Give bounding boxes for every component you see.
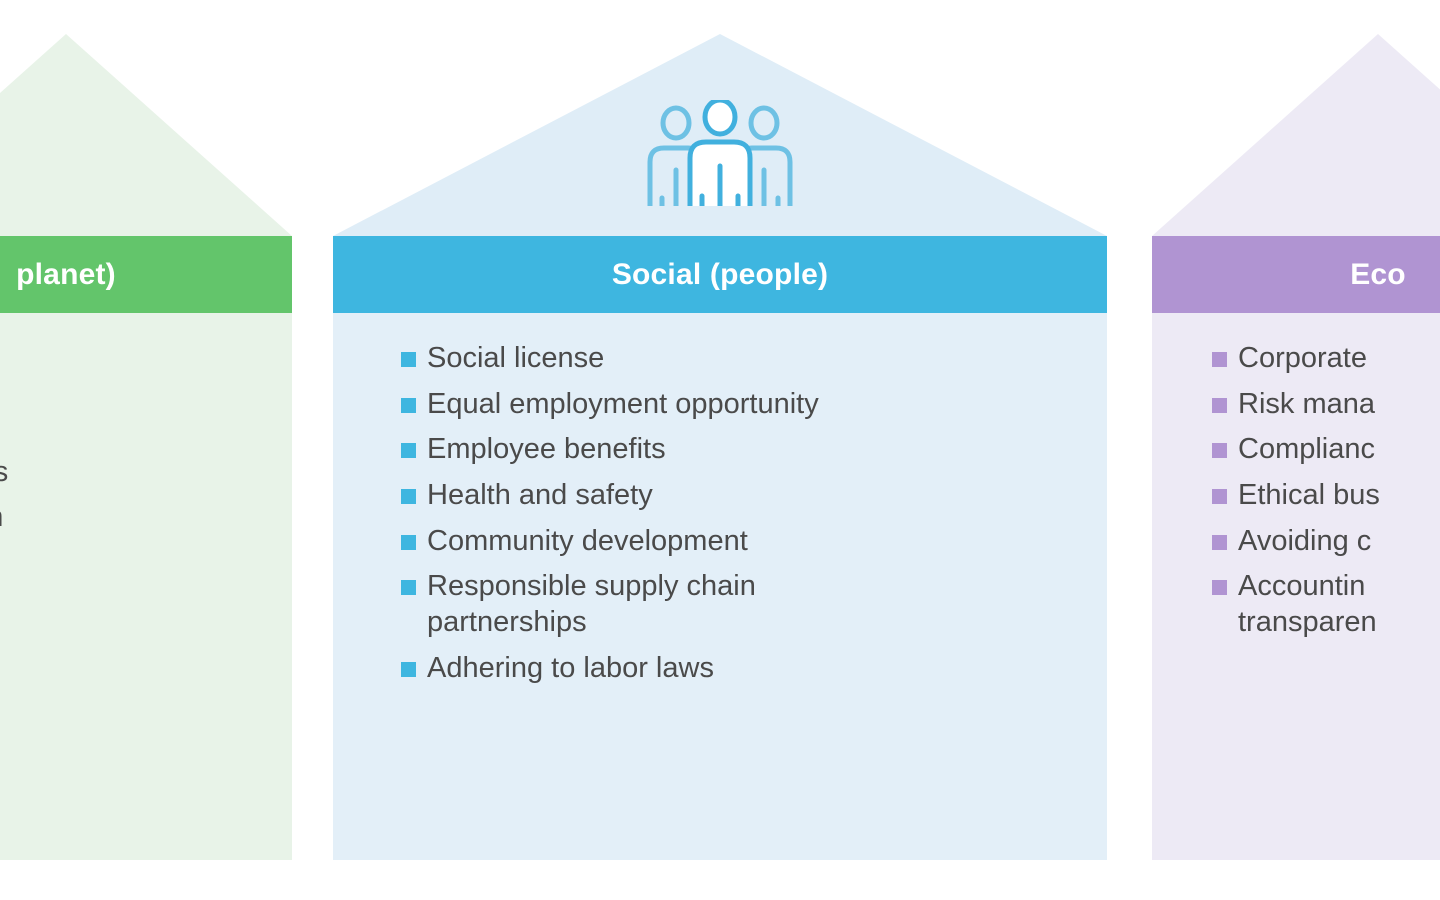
- bullet-square-icon: [1212, 352, 1227, 367]
- esg-pillars-diagram: planet) egy ssions uction: [0, 0, 1440, 900]
- header-social: Social (people): [333, 236, 1107, 313]
- list-item-label: Equal employment opportunity: [427, 387, 819, 423]
- pillar-social: Social (people) Social license Equal emp…: [333, 0, 1107, 900]
- roof-economic: [1152, 34, 1440, 236]
- bullet-square-icon: [401, 535, 416, 550]
- list-item: Social license: [401, 341, 1037, 377]
- pillar-environmental: planet) egy ssions uction: [0, 0, 292, 900]
- bullet-list-economic: Corporate Risk mana Complianc Ethical bu…: [1212, 341, 1440, 641]
- bullet-square-icon: [401, 398, 416, 413]
- bullet-square-icon: [401, 662, 416, 677]
- list-item: Equal employment opportunity: [401, 387, 1037, 423]
- header-environmental: planet): [0, 236, 292, 313]
- people-group-icon: [640, 100, 800, 206]
- bullet-square-icon: [1212, 535, 1227, 550]
- pillar-title-social: Social (people): [612, 258, 828, 292]
- pillar-economic: Eco Corporate Risk mana Complianc Et: [1152, 0, 1440, 900]
- list-item: Community development: [401, 524, 1037, 560]
- pillar-title-environmental: planet): [16, 258, 116, 292]
- bullet-list-social: Social license Equal employment opportun…: [401, 341, 1037, 686]
- list-item-label: Accountin transparen: [1238, 569, 1377, 640]
- list-item: egy: [0, 341, 272, 377]
- list-item-label: Responsible supply chain partnerships: [427, 569, 756, 640]
- roof-environmental: [0, 34, 292, 236]
- list-item-label: ssions: [0, 455, 8, 491]
- list-item-label: uction: [0, 500, 3, 536]
- list-item-label: Health and safety: [427, 478, 653, 514]
- list-item: Avoiding c: [1212, 524, 1440, 560]
- bullet-square-icon: [1212, 398, 1227, 413]
- bullet-square-icon: [1212, 443, 1227, 458]
- list-item: ssions: [0, 455, 272, 491]
- list-item: Employee benefits: [401, 432, 1037, 468]
- list-item-label: Avoiding c: [1238, 524, 1371, 560]
- list-item-label: Social license: [427, 341, 604, 377]
- bullet-square-icon: [1212, 489, 1227, 504]
- bullet-square-icon: [1212, 580, 1227, 595]
- list-item: uction: [0, 500, 272, 536]
- list-item-label: Risk mana: [1238, 387, 1375, 423]
- body-economic: Corporate Risk mana Complianc Ethical bu…: [1152, 313, 1440, 860]
- list-item: Adhering to labor laws: [401, 651, 1037, 687]
- list-item: Responsible supply chain partnerships: [401, 569, 1037, 640]
- list-item: Accountin transparen: [1212, 569, 1440, 640]
- list-item-label: Ethical bus: [1238, 478, 1380, 514]
- header-economic: Eco: [1152, 236, 1440, 313]
- list-item: Health and safety: [401, 478, 1037, 514]
- list-item-label: Community development: [427, 524, 748, 560]
- bullet-list-environmental: egy ssions uction: [0, 341, 272, 536]
- bullet-square-icon: [401, 580, 416, 595]
- list-item: Complianc: [1212, 432, 1440, 468]
- body-environmental: egy ssions uction: [0, 313, 292, 860]
- list-item-label: Adhering to labor laws: [427, 651, 714, 687]
- list-item: Risk mana: [1212, 387, 1440, 423]
- bullet-square-icon: [401, 352, 416, 367]
- bullet-square-icon: [401, 443, 416, 458]
- body-social: Social license Equal employment opportun…: [333, 313, 1107, 860]
- list-item: Ethical bus: [1212, 478, 1440, 514]
- list-item-label: Complianc: [1238, 432, 1375, 468]
- pillar-title-economic: Eco: [1350, 258, 1406, 292]
- list-item-label: Employee benefits: [427, 432, 666, 468]
- list-item-label: Corporate: [1238, 341, 1367, 377]
- list-item: Corporate: [1212, 341, 1440, 377]
- bullet-square-icon: [401, 489, 416, 504]
